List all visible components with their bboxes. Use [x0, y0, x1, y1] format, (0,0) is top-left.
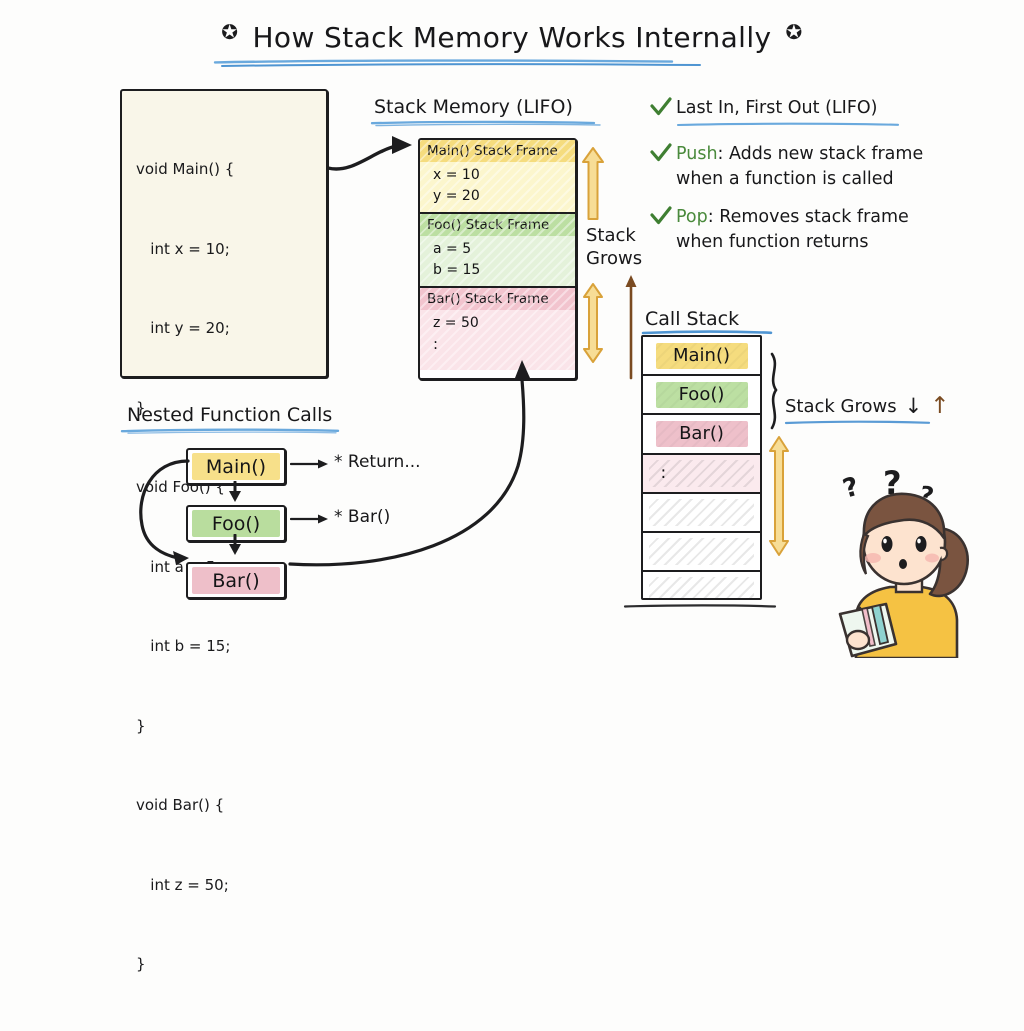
code-line: int b = 15;	[136, 633, 326, 660]
call-stack-grows-label: Stack Grows ↓ ↑	[785, 395, 950, 418]
call-stack-row: Foo()	[643, 374, 760, 413]
arrow-code-to-stack	[324, 128, 424, 178]
arrow-down-icon: ↓	[905, 395, 923, 418]
code-line: int x = 10;	[136, 236, 326, 263]
key-point-text-2: when a function is called	[676, 167, 923, 192]
key-point-keyword: Push	[676, 144, 718, 164]
key-point-lifo: Last In, First Out (LIFO)	[650, 96, 950, 128]
nested-box-label: Bar()	[212, 570, 259, 592]
check-icon	[650, 143, 676, 167]
code-line: void Bar() {	[136, 792, 326, 819]
stack-frame-body: x = 10 y = 20	[420, 162, 575, 212]
call-stack-box: Main() Foo() Bar() :	[641, 335, 762, 600]
call-stack-row: :	[643, 453, 760, 492]
stack-var: z = 50	[433, 313, 575, 334]
stack-var: y = 20	[433, 186, 575, 207]
nested-box-label: Foo()	[212, 513, 260, 535]
svg-text:?: ?	[840, 472, 863, 505]
call-stack-label: Bar()	[679, 423, 724, 444]
stack-frame-body: a = 5 b = 15	[420, 236, 575, 286]
stack-memory-box: Main() Stack Frame x = 10 y = 20 Foo() S…	[418, 138, 577, 380]
call-stack-row-empty	[643, 531, 760, 570]
key-point-text-wrap: Last In, First Out (LIFO)	[676, 96, 904, 128]
key-point-text: : Removes stack frame	[708, 207, 909, 227]
code-line: void Main() {	[136, 156, 326, 183]
check-icon	[650, 206, 676, 230]
stack-frame-main: Main() Stack Frame x = 10 y = 20	[420, 140, 575, 212]
call-stack-brace	[766, 352, 788, 430]
key-point-text-wrap: Push: Adds new stack frame when a functi…	[676, 142, 923, 192]
stack-direction-connector-arrow	[624, 274, 638, 384]
arrow-up-icon: ↑	[930, 395, 949, 418]
stack-memory-heading-underline	[370, 120, 602, 127]
call-stack-label: Foo()	[679, 384, 725, 405]
call-stack-chip: :	[651, 460, 753, 486]
call-stack-label: Main()	[673, 345, 730, 366]
code-line: int z = 50;	[136, 872, 326, 899]
nested-arrow-main-to-bar-curve	[132, 455, 196, 570]
call-stack-grows-text: Stack Grows	[785, 395, 897, 418]
title-underline	[212, 59, 706, 68]
stack-frame-foo: Foo() Stack Frame a = 5 b = 15	[420, 212, 575, 286]
key-point-keyword: Pop	[676, 207, 708, 227]
call-stack-ground-line	[623, 594, 778, 599]
call-stack-grow-double-arrow	[766, 435, 792, 557]
stack-frame-header: Foo() Stack Frame	[420, 214, 575, 236]
call-stack-chip: Main()	[656, 343, 748, 369]
stack-memory-heading: Stack Memory (LIFO)	[374, 96, 573, 118]
confused-girl-illustration: ? ? ?	[826, 468, 1002, 658]
hatch-overlay	[649, 538, 754, 565]
nested-call-boxes: Main() Foo() Bar()	[186, 448, 286, 599]
stack-grows-up-arrow	[580, 146, 606, 222]
stack-frame-header: Bar() Stack Frame	[420, 288, 575, 310]
key-point-pop: Pop: Removes stack frame when function r…	[650, 205, 950, 255]
key-point-text-2: when function returns	[676, 230, 909, 255]
call-stack-grows-underline	[784, 420, 932, 426]
key-point-text: Last In, First Out (LIFO)	[676, 98, 877, 118]
nested-arrow-foo-to-bar	[227, 534, 243, 556]
nested-box-main: Main()	[186, 448, 286, 485]
stack-grows-line2: Grows	[586, 247, 642, 270]
call-stack-row: Main()	[643, 337, 760, 374]
stack-var: b = 15	[433, 260, 575, 281]
key-points-list: Last In, First Out (LIFO) Push: Adds new…	[650, 96, 950, 268]
stack-grows-line1: Stack	[586, 224, 642, 247]
nested-box-bar: Bar()	[186, 562, 286, 599]
stack-frame-header: Main() Stack Frame	[420, 140, 575, 162]
stack-var: x = 10	[433, 165, 575, 186]
call-stack-row-empty	[643, 492, 760, 531]
call-stack-row: Bar()	[643, 413, 760, 452]
key-point-text: : Adds new stack frame	[718, 144, 924, 164]
nested-arrow-main-to-foo	[227, 481, 243, 503]
stack-grows-label: Stack Grows	[586, 224, 642, 270]
call-stack-chip: Foo()	[656, 382, 748, 408]
star-icon-right: ✪	[786, 20, 803, 44]
page-title: ✪How Stack Memory Works Internally✪	[0, 20, 1024, 54]
call-stack-label: :	[661, 463, 667, 483]
code-line: }	[136, 951, 326, 978]
infographic-canvas: ✪How Stack Memory Works Internally✪ void…	[0, 0, 1024, 683]
stack-var: :	[433, 334, 575, 355]
stack-grows-double-arrow	[580, 282, 606, 364]
stack-var: a = 5	[433, 239, 575, 260]
code-line: int y = 20;	[136, 315, 326, 342]
hatch-overlay	[649, 499, 754, 526]
page-title-text: How Stack Memory Works Internally	[252, 21, 771, 54]
key-point-text-wrap: Pop: Removes stack frame when function r…	[676, 205, 909, 255]
key-point-push: Push: Adds new stack frame when a functi…	[650, 142, 950, 192]
code-line: }	[136, 713, 326, 740]
check-icon	[650, 97, 676, 121]
call-stack-chip: Bar()	[656, 421, 748, 447]
call-stack-heading: Call Stack	[645, 308, 739, 330]
nested-box-label: Main()	[206, 456, 266, 478]
arrow-bar-to-stack-memory	[282, 356, 542, 576]
star-icon-left: ✪	[221, 20, 238, 44]
source-code-panel: void Main() { int x = 10; int y = 20; } …	[120, 89, 328, 378]
